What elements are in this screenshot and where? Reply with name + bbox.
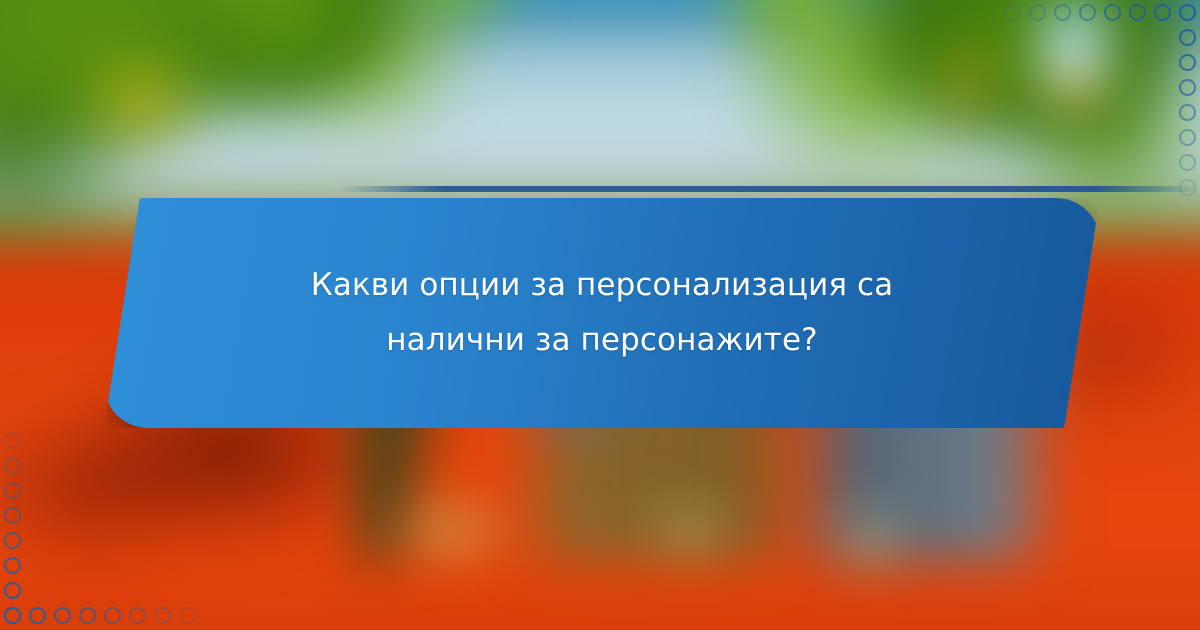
- question-text: Какви опции за персонализация са налични…: [252, 258, 952, 368]
- background-horizon-strip: [340, 186, 1200, 192]
- question-speech-bubble: Какви опции за персонализация са налични…: [104, 198, 1100, 428]
- question-card-canvas: Какви опции за персонализация са налични…: [0, 0, 1200, 630]
